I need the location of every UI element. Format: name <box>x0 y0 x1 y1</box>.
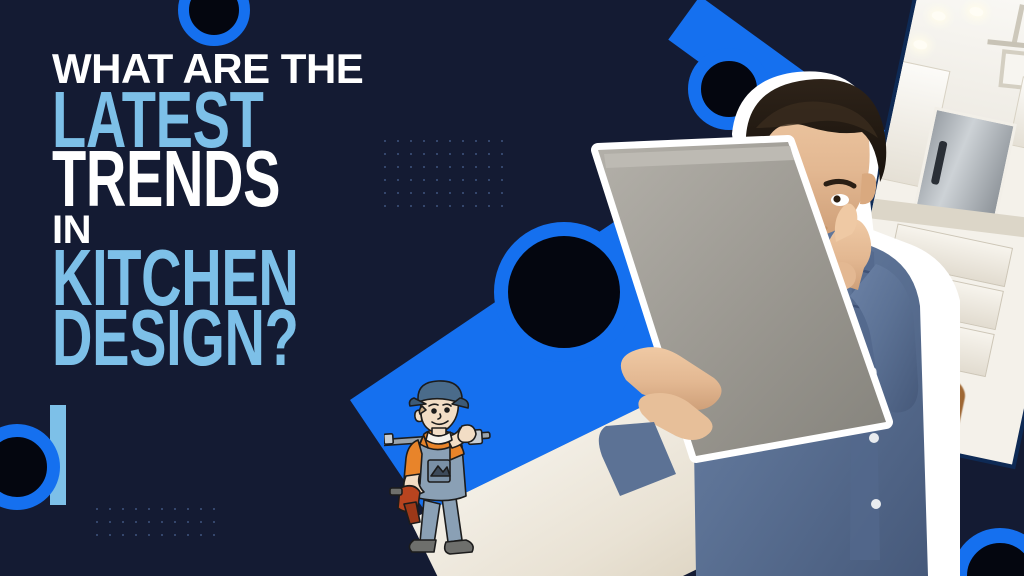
grid-dot <box>187 508 189 510</box>
grid-dot <box>135 521 137 523</box>
thinking-man-photo <box>590 54 960 576</box>
grid-dot <box>148 521 150 523</box>
grid-dot <box>449 166 451 168</box>
grid-dot <box>423 179 425 181</box>
grid-dot <box>436 140 438 142</box>
grid-dot <box>109 521 111 523</box>
grid-dot <box>213 534 215 536</box>
grid-dot <box>462 192 464 194</box>
grid-dot <box>436 179 438 181</box>
grid-dot <box>501 205 503 207</box>
grid-dot <box>488 179 490 181</box>
grid-dot <box>501 153 503 155</box>
grid-dot <box>488 166 490 168</box>
handyman-mascot-illustration <box>384 378 494 566</box>
grid-dot <box>96 508 98 510</box>
grid-dot <box>135 508 137 510</box>
ring-bottom-right <box>952 528 1024 576</box>
grid-dot <box>449 179 451 181</box>
grid-dot <box>488 153 490 155</box>
grid-dot <box>187 534 189 536</box>
grid-dot <box>475 166 477 168</box>
grid-dot <box>462 153 464 155</box>
grid-dot <box>148 534 150 536</box>
grid-dot <box>109 534 111 536</box>
grid-dot <box>475 192 477 194</box>
grid-dot <box>135 534 137 536</box>
grid-dot <box>462 179 464 181</box>
grid-dot <box>200 521 202 523</box>
grid-dot <box>122 534 124 536</box>
grid-dot <box>475 179 477 181</box>
grid-dot <box>174 508 176 510</box>
grid-dot <box>161 508 163 510</box>
grid-dot <box>109 508 111 510</box>
grid-dot <box>161 521 163 523</box>
grid-dot <box>423 192 425 194</box>
grid-dot <box>187 521 189 523</box>
grid-dot <box>122 521 124 523</box>
page-title: WHAT ARE THE LATEST TRENDS IN KITCHEN DE… <box>52 48 412 371</box>
grid-dot <box>200 534 202 536</box>
grid-dot <box>501 166 503 168</box>
grid-dot <box>462 166 464 168</box>
grid-dot <box>122 508 124 510</box>
ring-top-left <box>178 0 250 46</box>
grid-dot <box>436 153 438 155</box>
grid-dot <box>423 153 425 155</box>
grid-dot <box>501 179 503 181</box>
grid-dot <box>174 534 176 536</box>
grid-dot <box>475 153 477 155</box>
grid-dot <box>462 140 464 142</box>
grid-dot <box>96 534 98 536</box>
grid-dot <box>449 153 451 155</box>
headline-line-3: TRENDS <box>52 145 304 212</box>
banner-canvas: WHAT ARE THE LATEST TRENDS IN KITCHEN DE… <box>0 0 1024 576</box>
grid-dot <box>423 140 425 142</box>
grid-dot <box>462 205 464 207</box>
grid-dot <box>436 166 438 168</box>
grid-dot <box>148 508 150 510</box>
grid-dot <box>449 192 451 194</box>
grid-dot <box>436 205 438 207</box>
grid-dot <box>174 521 176 523</box>
grid-dot <box>488 140 490 142</box>
grid-dot <box>475 140 477 142</box>
grid-dot <box>161 534 163 536</box>
grid-dot <box>423 205 425 207</box>
grid-dot <box>501 192 503 194</box>
grid-dot <box>475 205 477 207</box>
headline-line-6: DESIGN? <box>52 304 304 371</box>
grid-dot <box>449 205 451 207</box>
grid-dot <box>423 166 425 168</box>
grid-dot <box>96 521 98 523</box>
grid-dot <box>200 508 202 510</box>
grid-dot <box>449 140 451 142</box>
grid-dot <box>213 508 215 510</box>
grid-dot <box>501 140 503 142</box>
grid-dot <box>488 205 490 207</box>
grid-dot <box>436 192 438 194</box>
grid-dot <box>213 521 215 523</box>
grid-dot <box>488 192 490 194</box>
